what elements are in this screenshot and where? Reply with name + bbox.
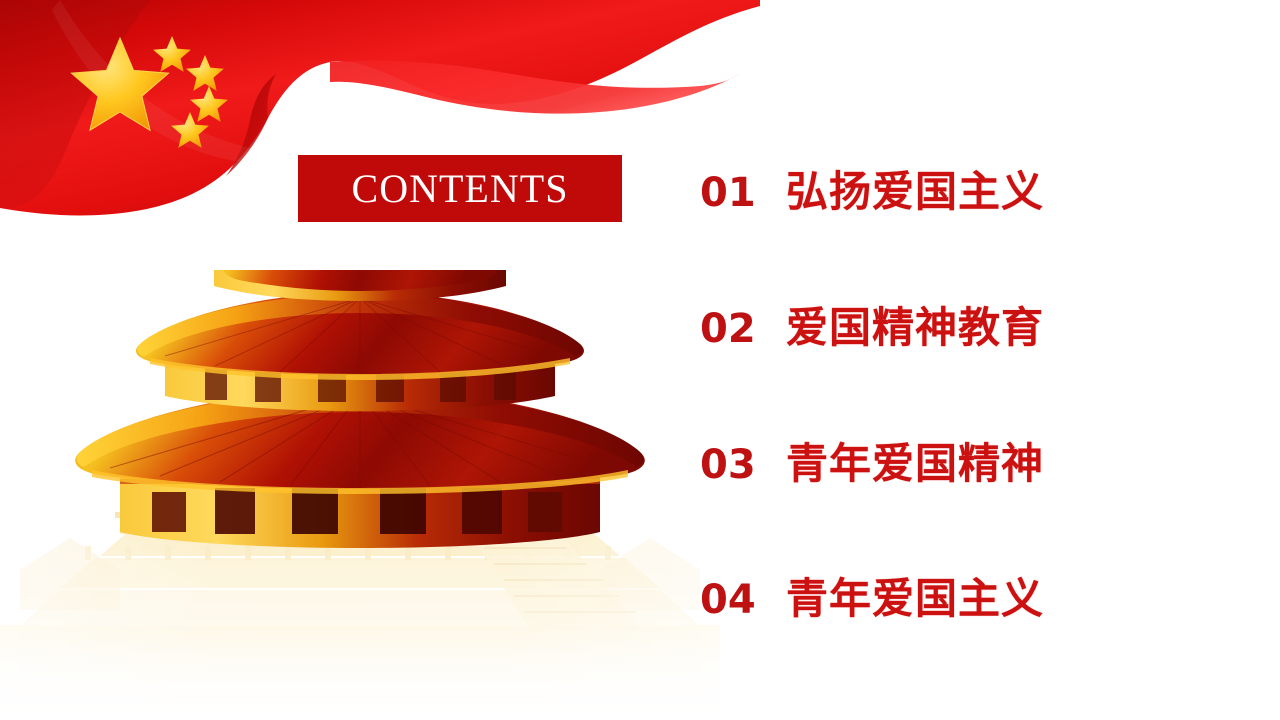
temple-roof-lower bbox=[75, 388, 645, 494]
flag-star-small-4 bbox=[171, 112, 209, 148]
contents-item-01[interactable]: 01 弘扬爱国主义 bbox=[700, 158, 1044, 219]
flag-stars bbox=[71, 36, 228, 148]
temple-doors bbox=[152, 484, 562, 534]
flag-star-small-3 bbox=[190, 86, 228, 122]
contents-item-04[interactable]: 04 青年爱国主义 bbox=[700, 565, 1044, 626]
temple-of-heaven-illustration bbox=[0, 270, 720, 720]
temple-hall-body bbox=[120, 468, 600, 548]
flag-star-small-1 bbox=[153, 36, 191, 72]
contents-item-01-number: 01 bbox=[700, 170, 786, 216]
contents-item-04-number: 04 bbox=[700, 577, 786, 623]
flag-tail bbox=[330, 60, 740, 113]
contents-list: 01 弘扬爱国主义 02 爱国精神教育 03 青年爱国精神 04 青年爱国主义 bbox=[700, 140, 1180, 640]
contents-banner: CONTENTS bbox=[298, 155, 622, 222]
temple-roof-top bbox=[223, 270, 497, 291]
contents-item-03-title: 青年爱国精神 bbox=[786, 430, 1044, 491]
contents-item-02-number: 02 bbox=[700, 306, 786, 352]
contents-slide: CONTENTS 01 弘扬爱国主义 02 爱国精神教育 03 青年爱国精神 0… bbox=[0, 0, 1280, 720]
flag-highlight bbox=[52, 0, 380, 166]
contents-item-04-title: 青年爱国主义 bbox=[786, 565, 1044, 626]
flag-shading bbox=[0, 0, 150, 208]
contents-banner-label: CONTENTS bbox=[352, 169, 569, 209]
contents-item-02[interactable]: 02 爱国精神教育 bbox=[700, 294, 1044, 355]
contents-item-03[interactable]: 03 青年爱国精神 bbox=[700, 430, 1044, 491]
contents-item-01-title: 弘扬爱国主义 bbox=[786, 158, 1044, 219]
contents-item-02-title: 爱国精神教育 bbox=[786, 294, 1044, 355]
contents-item-03-number: 03 bbox=[700, 442, 786, 488]
flag-fold bbox=[226, 74, 276, 176]
flag-star-small-2 bbox=[186, 55, 224, 91]
temple-mid-body bbox=[165, 352, 555, 411]
temple-marble-base bbox=[0, 510, 720, 720]
temple-roof-middle bbox=[136, 292, 584, 380]
temple-upper-body bbox=[214, 270, 506, 301]
flag-star-large bbox=[71, 38, 168, 130]
